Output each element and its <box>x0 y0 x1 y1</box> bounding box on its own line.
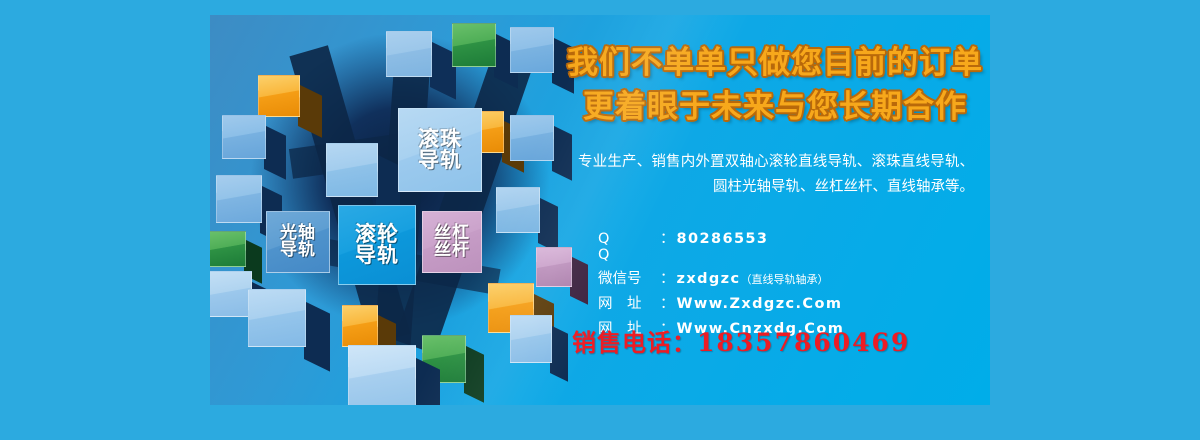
cube-orange-upper-left <box>258 75 300 117</box>
cube-blue-left-lower <box>216 175 262 223</box>
cube-blue-right-mid <box>510 115 554 161</box>
product-label-guangzhou-daogui[interactable]: 光轴 导轨 <box>266 211 330 273</box>
headline-line-2: 更着眼于未来与您长期合作 <box>560 85 990 129</box>
description-text: 专业生产、销售内外置双轴心滚轮直线导轨、滚珠直线导轨、圆柱光轴导轨、丝杠丝杆、直… <box>578 150 974 200</box>
cube-blue-left-mid <box>222 115 266 159</box>
sales-phone[interactable]: 销售电话：18357860469 <box>572 323 982 358</box>
cube-blue-lower-left <box>248 289 306 347</box>
wechat-value[interactable]: zxdgzc <box>677 271 741 287</box>
contact-row-qq: Q Q ： 80286553 <box>598 227 978 263</box>
product-label-gunzhu-daogui[interactable]: 滚珠 导轨 <box>398 108 482 192</box>
product-label-gunzhu-line1: 滚珠 <box>418 129 462 150</box>
contact-row-website-1: 网 址 ： Www.Zxdgzc.Com <box>598 292 978 313</box>
cube-blue-left-bottom <box>210 271 252 317</box>
cube-green-back <box>452 23 496 67</box>
product-label-gunzhu-line2: 导轨 <box>418 150 462 171</box>
headline: 我们不单单只做您目前的订单 更着眼于未来与您长期合作 <box>560 41 990 129</box>
sales-phone-number[interactable]: 18357860469 <box>697 328 910 357</box>
product-label-gunlun-line1: 滚轮 <box>355 224 399 245</box>
cube-blue-back-1 <box>386 31 432 77</box>
cube-blue-bottom-right <box>510 315 552 363</box>
wechat-note: （直线导轨轴承） <box>741 271 829 287</box>
cube-blue-center-plate <box>326 143 378 197</box>
sales-phone-label: 销售电话： <box>572 329 697 357</box>
headline-line-1: 我们不单单只做您目前的订单 <box>560 41 990 85</box>
product-label-sigang-line2: 丝杆 <box>434 242 470 259</box>
qq-label: Q Q <box>598 231 660 263</box>
cube-green-left-low <box>210 231 246 267</box>
banner-root: 滚珠 导轨 光轴 导轨 滚轮 导轨 丝杠 丝杆 我们不单单只做您目前的订单 更着… <box>0 0 1200 440</box>
product-label-guangzhou-line2: 导轨 <box>280 242 316 259</box>
wechat-separator: ： <box>660 267 675 288</box>
qq-value[interactable]: 80286553 <box>677 231 769 247</box>
cube-blue-bottom-center <box>348 345 416 405</box>
cube-blue-right-lower <box>496 187 540 233</box>
cube-graphic: 滚珠 导轨 光轴 导轨 滚轮 导轨 丝杠 丝杆 <box>210 15 570 405</box>
product-label-gunlun-daogui[interactable]: 滚轮 导轨 <box>338 205 416 285</box>
cube-orange-bottom <box>342 305 378 347</box>
product-label-sigang-sigan[interactable]: 丝杠 丝杆 <box>422 211 482 273</box>
wechat-label: 微信号 <box>598 267 660 288</box>
website-1-separator: ： <box>660 292 675 313</box>
website-1-label: 网 址 <box>598 292 660 313</box>
qq-separator: ： <box>660 227 675 248</box>
website-1-value[interactable]: Www.Zxdgzc.Com <box>677 296 843 312</box>
text-column: 我们不单单只做您目前的订单 更着眼于未来与您长期合作 专业生产、销售内外置双轴心… <box>560 15 990 405</box>
cube-blue-back-2 <box>510 27 554 73</box>
contact-row-wechat: 微信号 ： zxdgzc （直线导轨轴承） <box>598 267 978 288</box>
product-label-gunlun-line2: 导轨 <box>355 245 399 266</box>
inner-banner-panel: 滚珠 导轨 光轴 导轨 滚轮 导轨 丝杠 丝杆 我们不单单只做您目前的订单 更着… <box>210 15 990 405</box>
